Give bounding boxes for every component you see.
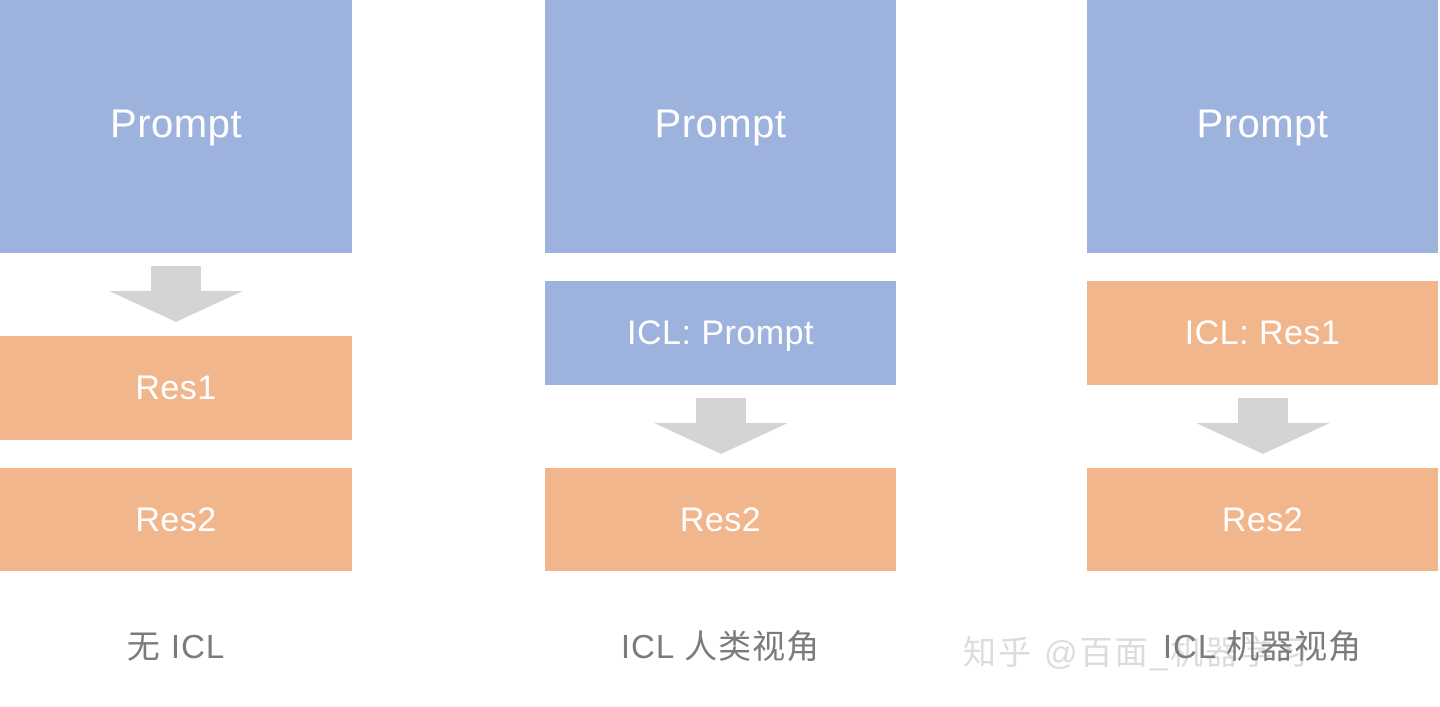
box-res2: Res2 (545, 468, 896, 571)
caption-no-icl: 无 ICL (0, 620, 352, 668)
column-no-icl: Prompt Res1 Res2 无 ICL (0, 0, 352, 707)
box-icl-res1: ICL: Res1 (1087, 281, 1438, 385)
box-icl-prompt: ICL: Prompt (545, 281, 896, 385)
down-arrow-icon (109, 266, 243, 322)
box-res1: Res1 (0, 336, 352, 440)
column-icl-human-view: Prompt ICL: Prompt Res2 ICL 人类视角 (545, 0, 896, 707)
box-prompt: Prompt (545, 0, 896, 253)
diagram-canvas: 知乎 @百面_机器学习 Prompt Res1 Res2 无 ICL Promp… (0, 0, 1440, 707)
box-res2: Res2 (1087, 468, 1438, 571)
box-prompt: Prompt (0, 0, 352, 253)
caption-icl-human-view: ICL 人类视角 (545, 620, 896, 668)
caption-icl-machine-view: ICL 机器视角 (1087, 620, 1438, 668)
box-res2: Res2 (0, 468, 352, 571)
box-prompt: Prompt (1087, 0, 1438, 253)
column-icl-machine-view: Prompt ICL: Res1 Res2 ICL 机器视角 (1087, 0, 1438, 707)
down-arrow-icon (654, 398, 788, 454)
down-arrow-icon (1196, 398, 1330, 454)
